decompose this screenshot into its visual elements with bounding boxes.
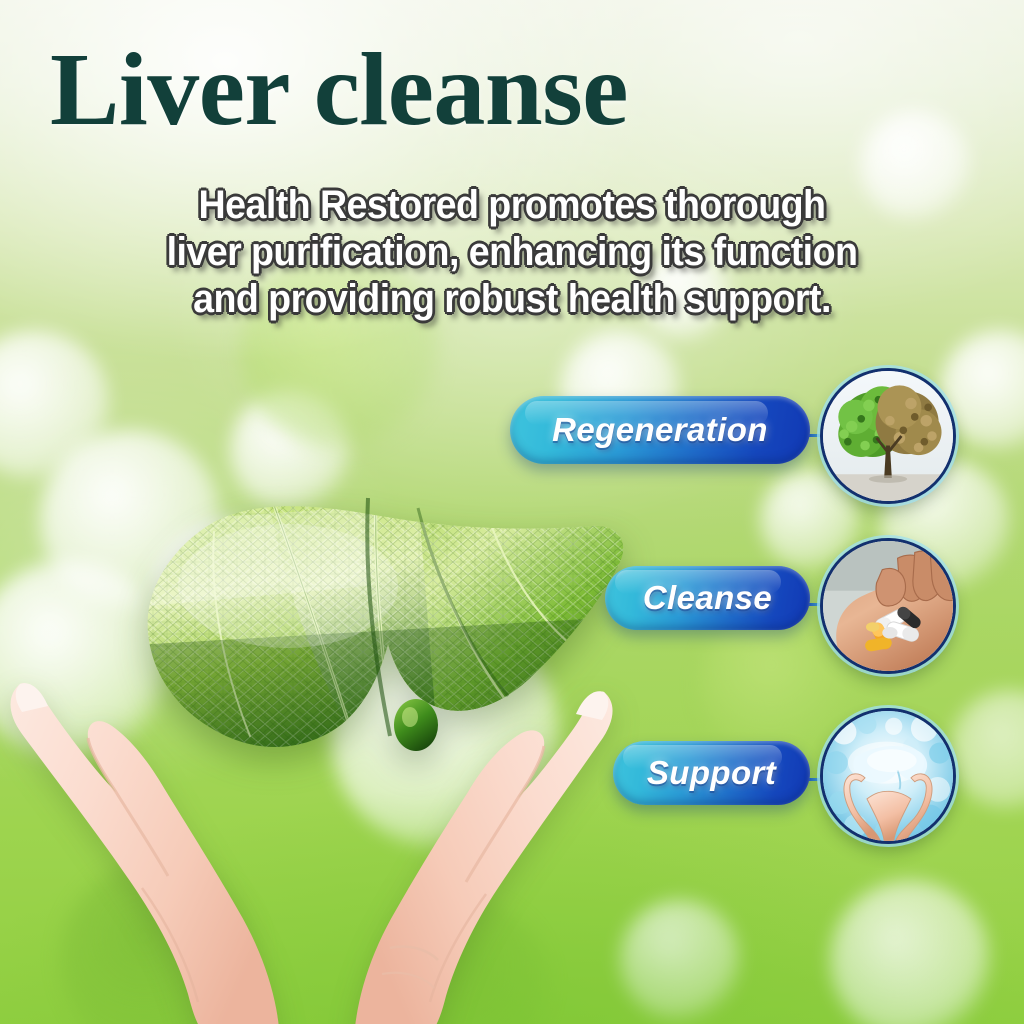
subtitle-block: Health Restored promotes thorough liver … [31,182,994,323]
feature-pill-label: Regeneration [552,411,768,449]
feature-pill-label: Support [647,754,776,792]
poster-canvas: Regeneration [0,0,1024,1024]
feature-pill-support[interactable]: Support [613,741,810,805]
feature-pill-regeneration[interactable]: Regeneration [510,396,810,464]
page-title: Liver cleanse [50,34,628,146]
feature-pill-label: Cleanse [643,579,772,617]
subtitle-line: Health Restored promotes thorough [31,182,994,229]
subtitle-line: and providing robust health support. [31,276,994,323]
hands-holding-glowing-liver-icon[interactable] [820,708,956,844]
subtitle-line: liver purification, enhancing its functi… [31,229,994,276]
feature-pill-cleanse[interactable]: Cleanse [605,566,810,630]
cupped-hands-icon [0,648,642,1024]
half-green-half-dry-tree-icon[interactable] [820,368,956,504]
hand-with-capsules-icon[interactable] [820,538,956,674]
